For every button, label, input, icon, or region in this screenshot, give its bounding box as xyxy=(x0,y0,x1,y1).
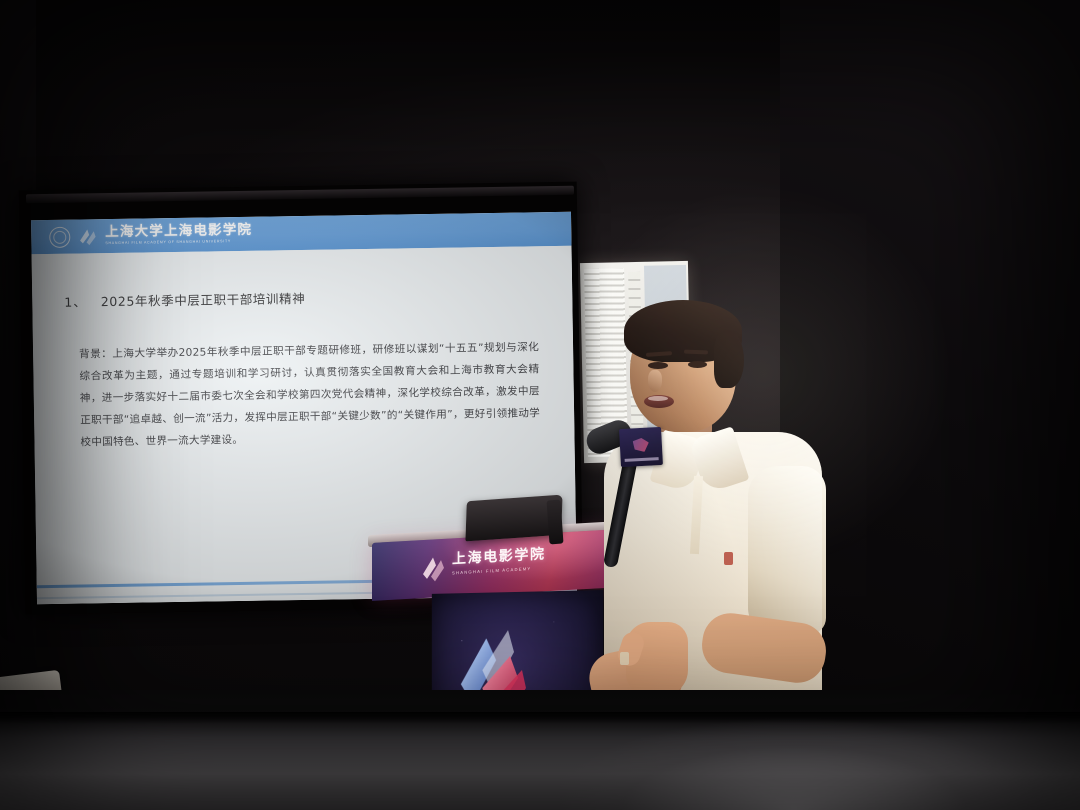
speaker-eye-right xyxy=(688,361,707,368)
speaker-teeth xyxy=(648,396,668,401)
podium-top-brand-cn: 上海电影学院 xyxy=(452,547,546,566)
microphone-flag-text-rule xyxy=(625,457,659,462)
presentation-scene: 上海大学上海电影学院 SHANGHAI FILM ACADEMY OF SHAN… xyxy=(0,0,1080,810)
speaker-eye-left xyxy=(648,362,668,369)
film-academy-mark-icon xyxy=(77,226,99,247)
speaker-hair-side xyxy=(714,330,744,388)
stage-floor-light-pool xyxy=(560,714,1080,810)
microphone-flag xyxy=(619,427,663,467)
slide-body-paragraph: 背景：上海大学举办2025年秋季中层正职干部专题研修班，研修班以谋划“十五五”规… xyxy=(79,336,541,453)
speaker-nose xyxy=(648,370,662,392)
microphone-flag-logo-icon xyxy=(633,438,650,453)
slide-title: 1、 2025年秋季中层正职干部培训精神 xyxy=(64,288,305,311)
film-academy-mark-icon xyxy=(420,553,446,584)
university-seal-icon xyxy=(49,226,70,247)
slide-header-institution-en: SHANGHAI FILM ACADEMY OF SHANGHAI UNIVER… xyxy=(105,240,252,246)
slide-header-institution-cn: 上海大学上海电影学院 xyxy=(105,224,252,240)
laptop-hinge xyxy=(546,500,563,545)
slide-title-number: 1、 xyxy=(64,291,87,310)
speaker-eyebrow-right xyxy=(684,350,708,355)
speaker-ring xyxy=(620,652,629,665)
slide-header-text: 上海大学上海电影学院 SHANGHAI FILM ACADEMY OF SHAN… xyxy=(105,224,252,246)
speaker-shirt-emblem xyxy=(724,552,733,565)
slide-title-text: 2025年秋季中层正职干部培训精神 xyxy=(101,288,306,310)
